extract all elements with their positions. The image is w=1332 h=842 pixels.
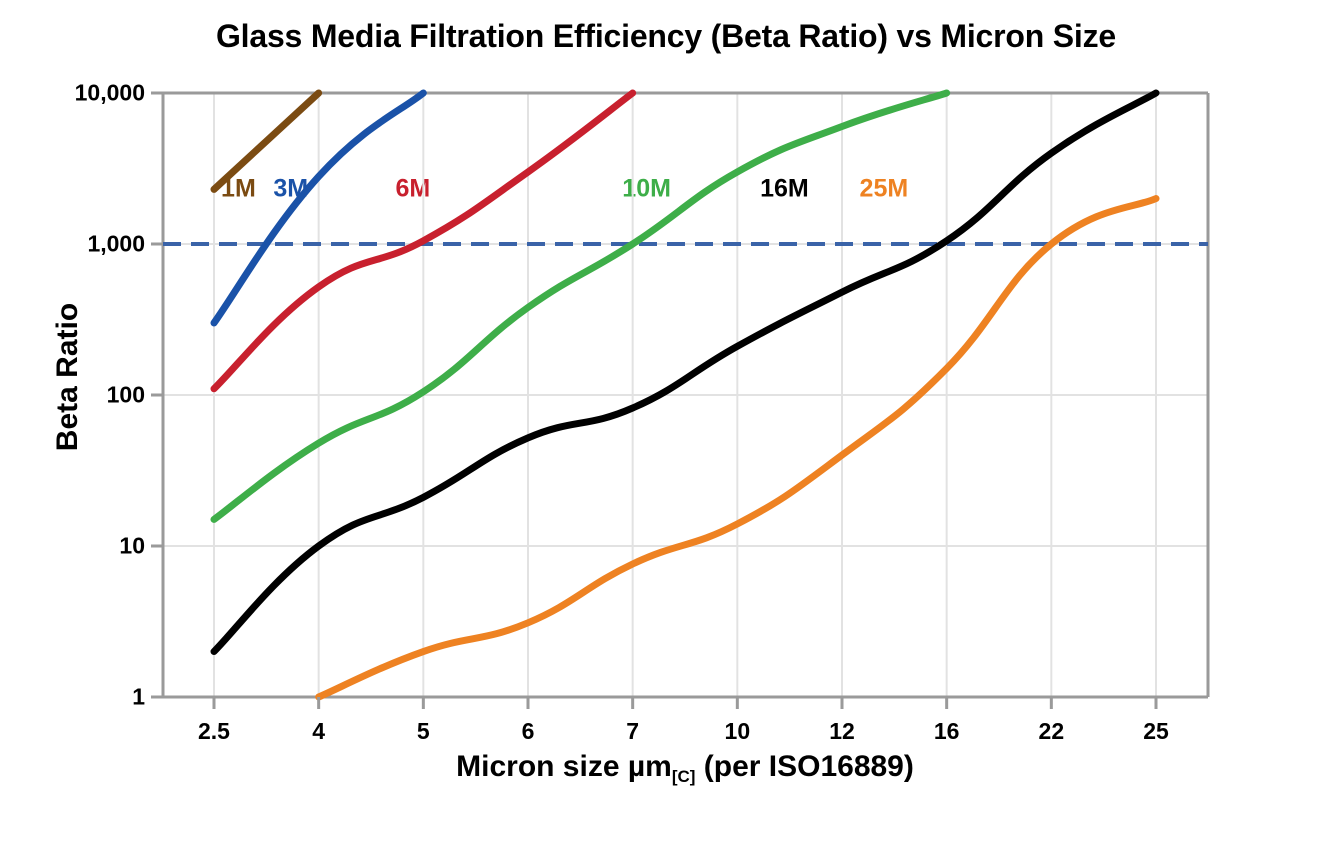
series-line-1m	[214, 93, 319, 189]
series-line-16m	[214, 93, 1156, 652]
plot-area	[0, 0, 1332, 842]
gridlines	[163, 93, 1208, 697]
chart-container: Glass Media Filtration Efficiency (Beta …	[0, 0, 1332, 842]
